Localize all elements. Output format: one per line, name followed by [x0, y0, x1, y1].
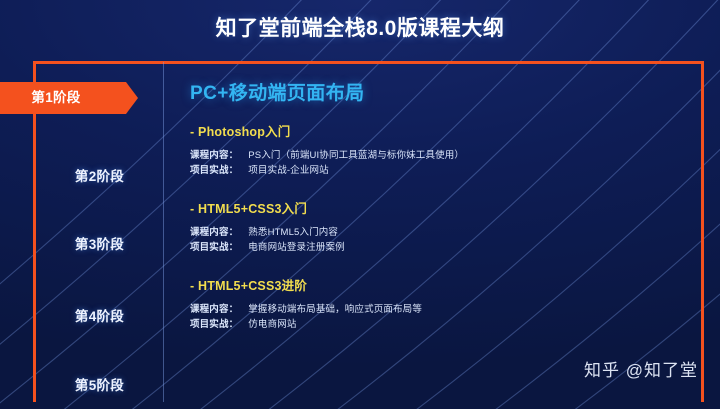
- sidebar-item-stage-4[interactable]: 第4阶段: [36, 305, 163, 325]
- topic-title-2: - HTML5+CSS3入门: [190, 198, 690, 217]
- sidebar-item-stage-3[interactable]: 第3阶段: [36, 233, 163, 253]
- course-label-3: 课程内容：: [190, 304, 238, 315]
- topic-project-row-3: 项目实战：仿电商网站: [190, 317, 690, 332]
- topic-title-3: - HTML5+CSS3进阶: [190, 275, 690, 294]
- topic-course-row-3: 课程内容：掌握移动端布局基础，响应式页面布局等: [190, 302, 690, 317]
- watermark: 知乎 @知了堂: [584, 356, 698, 381]
- topic-course-row-2: 课程内容：熟悉HTML5入门内容: [190, 225, 690, 240]
- sidebar-content-divider: [163, 62, 164, 402]
- topic-project-row-2: 项目实战：电商网站登录注册案例: [190, 240, 690, 255]
- page-title: 知了堂前端全栈8.0版课程大纲: [0, 12, 720, 42]
- sidebar-item-stage-2[interactable]: 第2阶段: [36, 165, 163, 185]
- sidebar-item-stage-1-label: 第1阶段: [0, 82, 126, 114]
- topic-block-2: - HTML5+CSS3入门 课程内容：熟悉HTML5入门内容 项目实战：电商网…: [190, 198, 690, 255]
- sidebar-item-stage-1-active[interactable]: 第1阶段: [0, 82, 138, 114]
- course-value-1: PS入门（前端UI协同工具蓝湖与标你妹工具使用）: [248, 150, 464, 161]
- topic-block-3: - HTML5+CSS3进阶 课程内容：掌握移动端布局基础，响应式页面布局等 项…: [190, 275, 690, 332]
- project-label-3: 项目实战：: [190, 319, 238, 330]
- frame-right-border: [701, 61, 704, 402]
- course-outline-slide: 知了堂前端全栈8.0版课程大纲 第2阶段 第3阶段 第4阶段 第5阶段 第1阶段…: [0, 0, 720, 409]
- course-label-2: 课程内容：: [190, 227, 238, 238]
- topic-project-row-1: 项目实战：项目实战-企业网站: [190, 163, 690, 178]
- project-value-3: 仿电商网站: [248, 319, 296, 330]
- course-label-1: 课程内容：: [190, 150, 238, 161]
- sidebar-item-stage-5[interactable]: 第5阶段: [36, 374, 163, 394]
- topic-block-1: - Photoshop入门 课程内容：PS入门（前端UI协同工具蓝湖与标你妹工具…: [190, 121, 690, 178]
- project-label-1: 项目实战：: [190, 165, 238, 176]
- project-label-2: 项目实战：: [190, 242, 238, 253]
- module-heading: PC+移动端页面布局: [190, 78, 690, 105]
- project-value-2: 电商网站登录注册案例: [248, 242, 345, 253]
- course-value-3: 掌握移动端布局基础，响应式页面布局等: [248, 304, 422, 315]
- course-value-2: 熟悉HTML5入门内容: [248, 227, 338, 238]
- stage-content-panel: PC+移动端页面布局 - Photoshop入门 课程内容：PS入门（前端UI协…: [190, 78, 690, 350]
- project-value-1: 项目实战-企业网站: [248, 165, 329, 176]
- topic-course-row-1: 课程内容：PS入门（前端UI协同工具蓝湖与标你妹工具使用）: [190, 148, 690, 163]
- topic-title-1: - Photoshop入门: [190, 121, 690, 140]
